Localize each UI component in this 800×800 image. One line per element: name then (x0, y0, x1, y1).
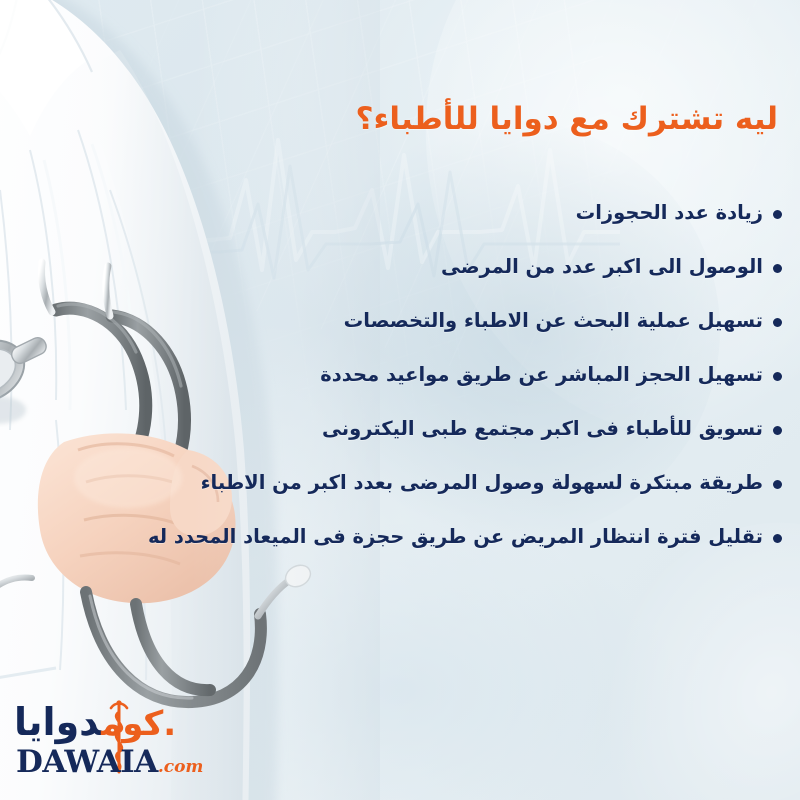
bullet-dot-icon (773, 426, 782, 435)
bullet-dot-icon (773, 210, 782, 219)
list-item: تسهيل عملية البحث عن الاطباء والتخصصات (2, 294, 782, 348)
page-title: ليه تشترك مع دوايا للأطباء؟ (18, 100, 778, 139)
brand-logo[interactable]: .كومدوايا DAWAIA.com (14, 700, 224, 786)
bullet-dot-icon (773, 318, 782, 327)
bullet-dot-icon (773, 372, 782, 381)
bullet-dot-icon (773, 534, 782, 543)
list-item-label: الوصول الى اكبر عدد من المرضى (441, 255, 763, 278)
logo-latin-com: .com (158, 757, 204, 777)
list-item-label: طريقة مبتكرة لسهولة وصول المرضى بعدد اكب… (201, 471, 763, 494)
list-item-label: تسهيل عملية البحث عن الاطباء والتخصصات (344, 309, 763, 332)
promotional-poster: ليه تشترك مع دوايا للأطباء؟ زيادة عدد ال… (0, 0, 800, 800)
poster-content: ليه تشترك مع دوايا للأطباء؟ زيادة عدد ال… (0, 0, 800, 800)
list-item-label: زيادة عدد الحجوزات (576, 201, 763, 224)
list-item: تسويق للأطباء فى اكبر مجتمع طبى اليكترون… (2, 402, 782, 456)
list-item: زيادة عدد الحجوزات (2, 186, 782, 240)
logo-arabic-com: .كوم (101, 704, 176, 744)
logo-latin-main: DAWAIA (16, 744, 158, 780)
list-item-label: تسهيل الحجز المباشر عن طريق مواعيد محددة (320, 363, 763, 386)
list-item: طريقة مبتكرة لسهولة وصول المرضى بعدد اكب… (2, 456, 782, 510)
list-item: الوصول الى اكبر عدد من المرضى (2, 240, 782, 294)
logo-arabic-main: دوايا (14, 700, 101, 744)
list-item-label: تقليل فترة انتظار المريض عن طريق حجزة فى… (148, 525, 763, 548)
list-item-label: تسويق للأطباء فى اكبر مجتمع طبى اليكترون… (322, 417, 763, 440)
bullet-dot-icon (773, 264, 782, 273)
bullet-dot-icon (773, 480, 782, 489)
list-item: تسهيل الحجز المباشر عن طريق مواعيد محددة (2, 348, 782, 402)
benefits-list: زيادة عدد الحجوزات الوصول الى اكبر عدد م… (2, 186, 782, 564)
logo-latin-wordmark: DAWAIA.com (16, 744, 203, 780)
list-item: تقليل فترة انتظار المريض عن طريق حجزة فى… (2, 510, 782, 564)
